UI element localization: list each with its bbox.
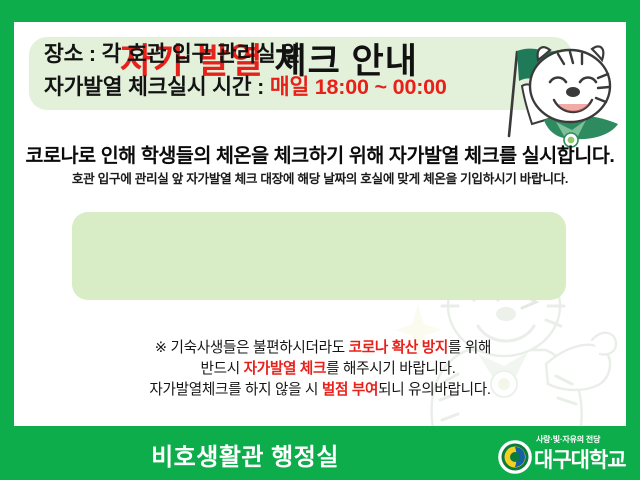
notice-line-1-c: 를 위해 <box>448 340 491 356</box>
notice-line-2-highlight: 자가발열 체크 <box>244 361 327 377</box>
notice-line-3-highlight: 벌점 부여 <box>322 382 378 398</box>
info-box <box>72 212 566 300</box>
info-time-value: 매일 18:00 ~ 00:00 <box>270 75 447 99</box>
footer-bar: 비호생활관 행정실 사랑·빛·자유의 전당 대구대학교 <box>0 426 640 480</box>
info-time-line: 자가발열 체크실시 시간 : 매일 18:00 ~ 00:00 <box>44 70 447 101</box>
notice-line-3-a: 자가발열체크를 하지 않을 시 <box>149 382 322 398</box>
info-location-line: 장소 : 각 호관 입구 관리실 앞 <box>44 37 301 68</box>
university-logo: 사랑·빛·자유의 전당 대구대학교 <box>498 431 638 475</box>
university-seal-icon <box>498 440 532 474</box>
poster-root: 자가 발열 체크 안내 <box>0 0 640 480</box>
tiger-mascot-icon <box>492 24 626 156</box>
notice-line-1-a: ※ 기숙사생들은 불편하시더라도 <box>155 340 349 356</box>
notice-line-2-a: 반드시 <box>200 361 243 377</box>
poster-page: 자가 발열 체크 안내 <box>14 22 626 426</box>
notice-line-1-highlight: 코로나 확산 방지 <box>349 340 448 356</box>
notice-block: ※ 기숙사생들은 불편하시더라도 코로나 확산 방지를 위해 반드시 자가발열 … <box>14 338 626 401</box>
notice-line-2-c: 를 해주시기 바랍니다. <box>326 361 455 377</box>
notice-line-2: 반드시 자가발열 체크를 해주시기 바랍니다. <box>14 359 626 380</box>
notice-line-3: 자가발열체크를 하지 않을 시 벌점 부여되니 유의바랍니다. <box>14 380 626 401</box>
subline-text: 호관 입구에 관리실 앞 자가발열 체크 대장에 해당 날짜의 호실에 맞게 체… <box>14 168 626 187</box>
logo-university-name: 대구대학교 <box>534 444 626 474</box>
headline-text: 코로나로 인해 학생들의 체온을 체크하기 위해 자가발열 체크를 실시합니다. <box>14 139 626 168</box>
notice-line-1: ※ 기숙사생들은 불편하시더라도 코로나 확산 방지를 위해 <box>14 338 626 359</box>
notice-line-3-c: 되니 유의바랍니다. <box>378 382 491 398</box>
info-time-label: 자가발열 체크실시 시간 : <box>44 75 270 99</box>
